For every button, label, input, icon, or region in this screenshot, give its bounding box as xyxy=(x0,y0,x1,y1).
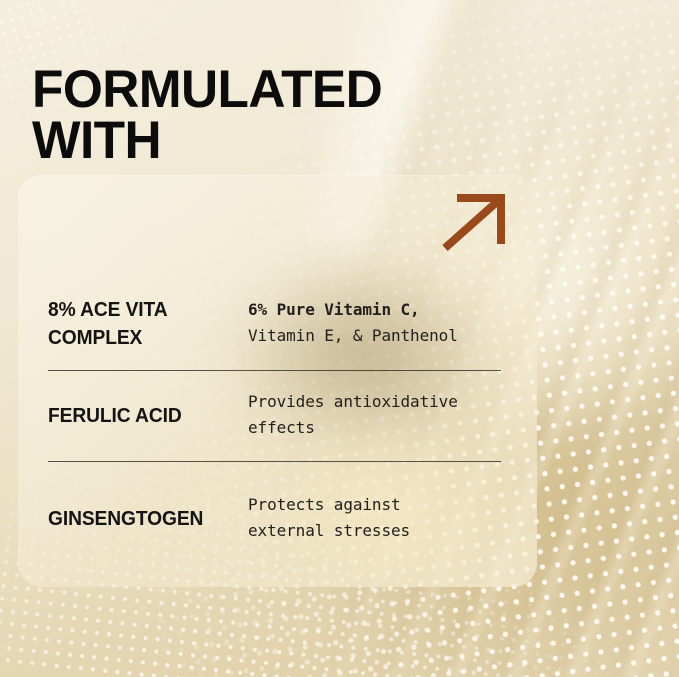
ingredient-name: 8% ACE VITA COMPLEX xyxy=(48,296,240,353)
ingredient-name: FERULIC ACID xyxy=(48,402,240,430)
ingredient-description: Provides antioxidative effects xyxy=(248,389,503,441)
ingredient-name: GINSENGTOGEN xyxy=(48,505,240,533)
ingredient-description: Protects against external stresses xyxy=(248,492,503,544)
ingredient-row-ginsengtogen: GINSENGTOGEN Protects against external s… xyxy=(48,462,503,544)
page-title: FORMULATED WITH xyxy=(32,64,488,167)
ingredient-row-ace-vita-complex: 8% ACE VITA COMPLEX 6% Pure Vitamin C, V… xyxy=(48,296,503,370)
arrow-up-right-icon xyxy=(437,190,511,256)
ingredient-description-strong: 6% Pure Vitamin C, xyxy=(248,300,420,319)
ingredients-list: 8% ACE VITA COMPLEX 6% Pure Vitamin C, V… xyxy=(48,296,503,543)
ingredient-description: 6% Pure Vitamin C, Vitamin E, & Pantheno… xyxy=(248,297,503,349)
ingredient-row-ferulic-acid: FERULIC ACID Provides antioxidative effe… xyxy=(48,371,503,461)
promo-panel: FORMULATED WITH 8% ACE VITA COMPLEX 6% P… xyxy=(0,0,679,677)
ingredient-description-rest: Vitamin E, & Panthenol xyxy=(248,326,458,345)
